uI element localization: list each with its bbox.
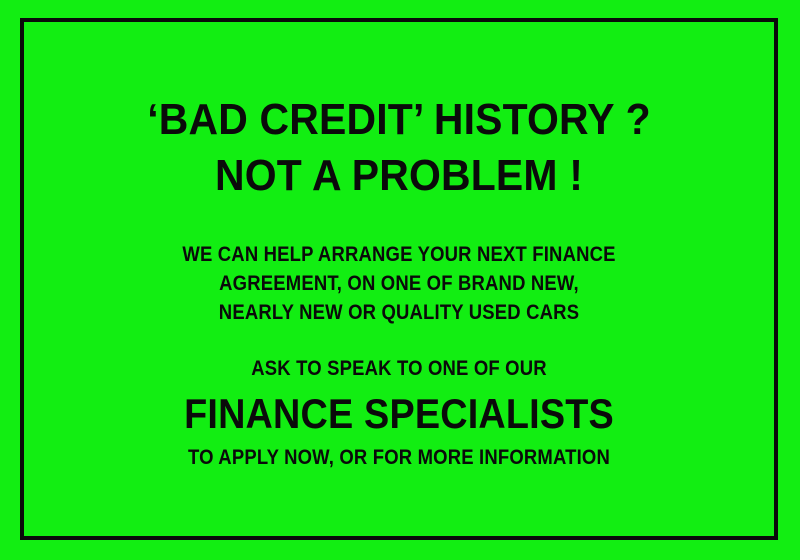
call-to-action-emphasis-block: FINANCE SPECIALISTS (24, 389, 774, 439)
headline-line-2: NOT A PROBLEM ! (50, 148, 748, 204)
call-to-action-intro-block: ASK TO SPEAK TO ONE OF OUR (24, 354, 774, 384)
headline-line-1: ‘BAD CREDIT’ HISTORY ? (50, 92, 748, 148)
body-line-2: AGREEMENT, ON ONE OF BRAND NEW, (69, 269, 729, 298)
advertisement-poster: ‘BAD CREDIT’ HISTORY ? NOT A PROBLEM ! W… (0, 0, 800, 560)
poster-content: ‘BAD CREDIT’ HISTORY ? NOT A PROBLEM ! W… (24, 22, 774, 536)
call-to-action-footer: TO APPLY NOW, OR FOR MORE INFORMATION (69, 444, 729, 472)
call-to-action-footer-block: TO APPLY NOW, OR FOR MORE INFORMATION (24, 444, 774, 472)
body-line-3: NEARLY NEW OR QUALITY USED CARS (69, 298, 729, 327)
body-line-1: WE CAN HELP ARRANGE YOUR NEXT FINANCE (69, 240, 729, 269)
body-paragraph-block: WE CAN HELP ARRANGE YOUR NEXT FINANCE AG… (24, 240, 774, 327)
call-to-action-intro: ASK TO SPEAK TO ONE OF OUR (69, 354, 729, 384)
call-to-action-emphasis: FINANCE SPECIALISTS (62, 389, 737, 439)
headline-block: ‘BAD CREDIT’ HISTORY ? NOT A PROBLEM ! (24, 92, 774, 204)
